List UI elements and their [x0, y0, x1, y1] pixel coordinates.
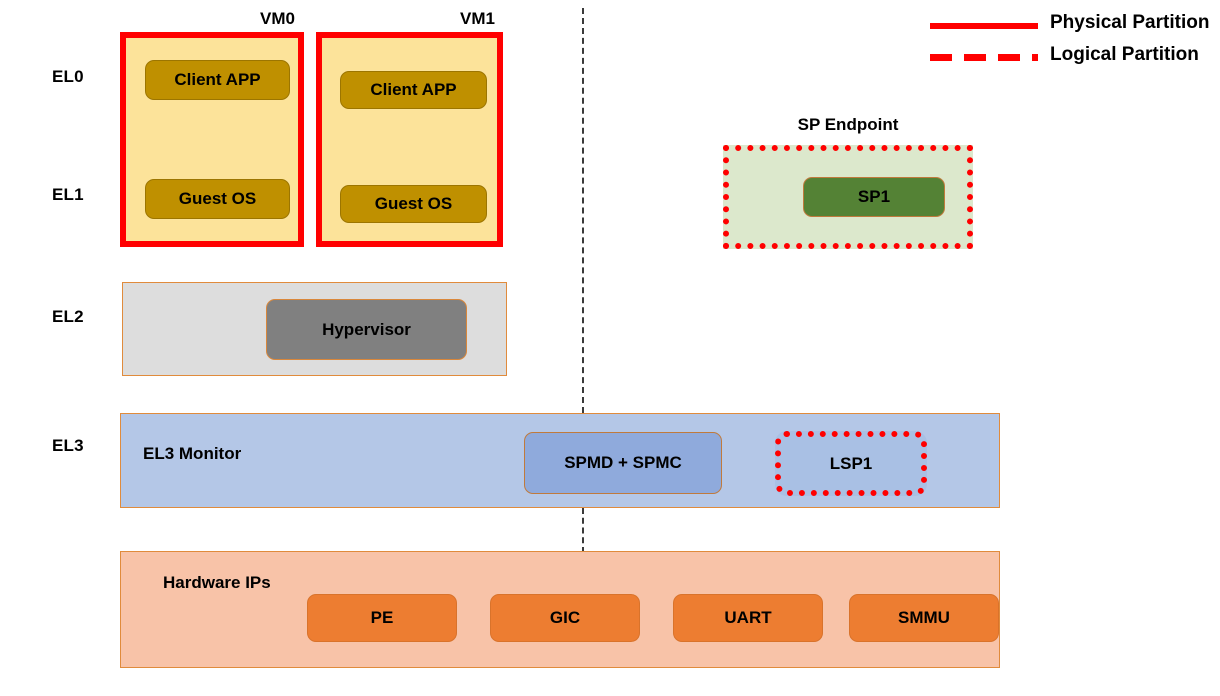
exception-level-label-el0: EL0: [52, 67, 84, 87]
el2-band: Hypervisor: [122, 282, 507, 376]
vm0-caption: VM0: [140, 9, 295, 29]
hypervisor-label: Hypervisor: [322, 320, 411, 340]
vm1-partition[interactable]: Client APP Guest OS: [316, 32, 503, 247]
hardware-block-gic[interactable]: GIC: [490, 594, 640, 642]
vm0-client-app-block[interactable]: Client APP: [145, 60, 290, 100]
vm1-guest-os-block[interactable]: Guest OS: [340, 185, 487, 223]
legend-physical-partition-line: [930, 23, 1038, 29]
sp-endpoint-caption: SP Endpoint: [723, 115, 973, 135]
lsp1-label: LSP1: [830, 454, 873, 474]
hardware-block-smmu[interactable]: SMMU: [849, 594, 999, 642]
sp-endpoint-partition[interactable]: SP1: [723, 145, 973, 249]
hypervisor-block[interactable]: Hypervisor: [266, 299, 467, 360]
exception-level-label-el3: EL3: [52, 436, 84, 456]
spmd-spmc-label: SPMD + SPMC: [564, 453, 682, 473]
legend: Physical Partition Logical Partition: [930, 12, 1220, 74]
hardware-band: Hardware IPs PE GIC UART SMMU: [120, 551, 1000, 668]
vm1-caption: VM1: [340, 9, 495, 29]
spmd-spmc-block[interactable]: SPMD + SPMC: [524, 432, 722, 494]
vm0-client-app-label: Client APP: [174, 70, 260, 90]
vm1-client-app-block[interactable]: Client APP: [340, 71, 487, 109]
hardware-ips-title: Hardware IPs: [163, 573, 271, 593]
secure-world-divider-upper: [582, 8, 584, 413]
vm1-client-app-label: Client APP: [370, 80, 456, 100]
hardware-block-pe[interactable]: PE: [307, 594, 457, 642]
hardware-block-uart-label: UART: [724, 608, 771, 628]
lsp1-block[interactable]: LSP1: [775, 431, 927, 496]
exception-level-label-el2: EL2: [52, 307, 84, 327]
hardware-block-smmu-label: SMMU: [898, 608, 950, 628]
sp1-label: SP1: [858, 187, 890, 207]
vm0-guest-os-block[interactable]: Guest OS: [145, 179, 290, 219]
hardware-block-pe-label: PE: [371, 608, 394, 628]
vm0-partition[interactable]: Client APP Guest OS: [120, 32, 304, 247]
vm1-guest-os-label: Guest OS: [375, 194, 452, 214]
hardware-block-uart[interactable]: UART: [673, 594, 823, 642]
el3-band: EL3 Monitor SPMD + SPMC LSP1: [120, 413, 1000, 508]
legend-physical-partition-label: Physical Partition: [1050, 12, 1209, 34]
sp1-block[interactable]: SP1: [803, 177, 945, 217]
secure-world-divider-lower: [582, 508, 584, 553]
vm0-guest-os-label: Guest OS: [179, 189, 256, 209]
diagram-canvas: EL0 EL1 EL2 EL3 VM0 Client APP Guest OS …: [0, 0, 1220, 696]
legend-logical-partition-label: Logical Partition: [1050, 44, 1199, 66]
legend-logical-partition-line: [930, 54, 1038, 61]
el3-monitor-title: EL3 Monitor: [143, 444, 241, 464]
hardware-block-gic-label: GIC: [550, 608, 580, 628]
exception-level-label-el1: EL1: [52, 185, 84, 205]
